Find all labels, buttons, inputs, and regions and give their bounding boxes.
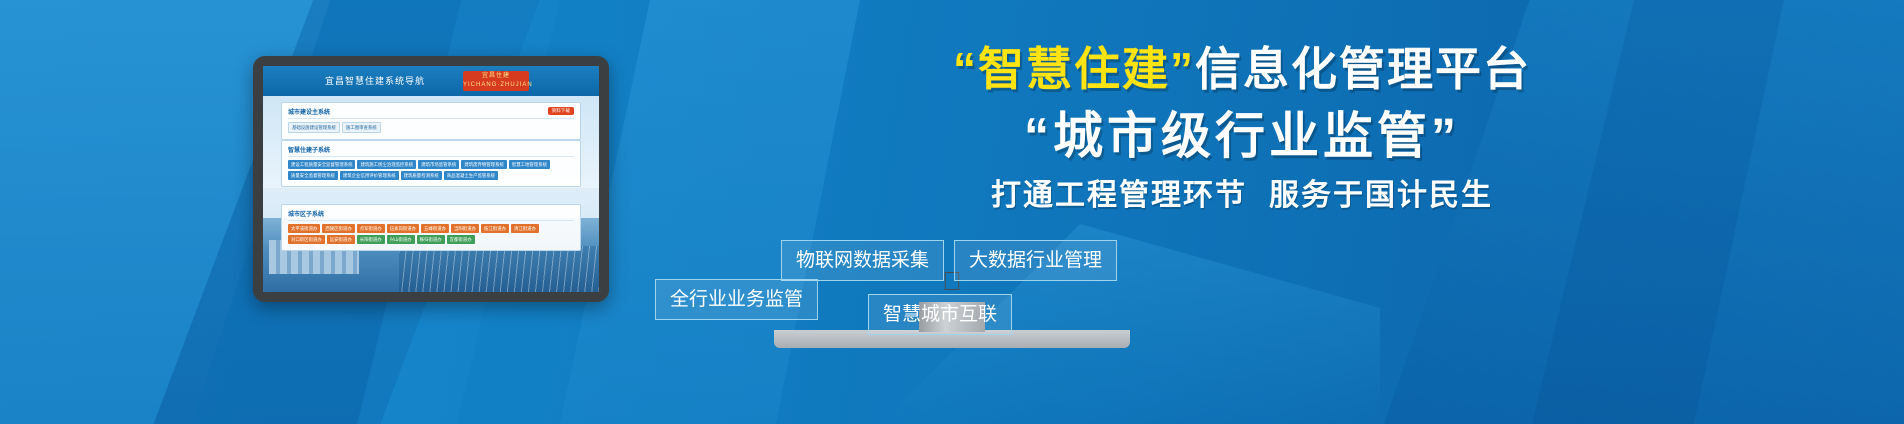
screen-panel-smart-housing: 智慧住建子系统 建设工程质量安全监督管理系统 建筑施工扬尘治理监控系统 建筑市场… <box>281 140 581 187</box>
screen-chip[interactable]: 宜都街道办 <box>447 235 475 244</box>
headline-quote-open: “ <box>953 43 978 95</box>
screen-panel-districts: 城市区子系统 太平溪街道办 西陵区街道办 点军街道办 伍家岗街道办 五峰街道办 … <box>281 204 581 251</box>
screen-chip[interactable]: 建筑质量检测系统 <box>401 171 442 180</box>
panel-title: 城市区子系统 <box>288 209 574 221</box>
screen-chip[interactable]: 远安街道办 <box>327 235 355 244</box>
headline-highlight: 智慧住建 <box>978 43 1170 95</box>
headline-line-1: “智慧住建”信息化管理平台 <box>652 44 1832 96</box>
screen-panel-city-main: 资料下载 城市建设主系统 基础设施建设管理系统 施工图审查系统 <box>281 102 581 140</box>
download-button[interactable]: 资料下载 <box>548 107 574 115</box>
screen-chip[interactable]: 五峰街道办 <box>421 224 449 233</box>
tag-pill-all-industry-supervision[interactable]: 全行业业务监管 <box>655 279 818 320</box>
screen-header: 宜昌智慧住建系统导航 宜昌住建YICHANG·ZHUJIAN <box>263 66 599 96</box>
screen-chip[interactable]: 兴山街道办 <box>387 235 415 244</box>
headline-quote-close: ” <box>1170 43 1195 95</box>
screen-chip[interactable]: 西陵区街道办 <box>322 224 354 233</box>
screen-chip[interactable]: 长阳街道办 <box>357 235 385 244</box>
screen-chip[interactable]: 质量安全监督管理系统 <box>288 171 338 180</box>
panel-title: 智慧住建子系统 <box>288 145 574 157</box>
screen-chip[interactable]: 建设工程质量安全监督管理系统 <box>288 160 355 169</box>
panel-chip-list: 太平溪街道办 西陵区街道办 点军街道办 伍家岗街道办 五峰街道办 当阳街道办 枝… <box>288 224 574 244</box>
screen-chip[interactable]: 商品混凝土生产监管系统 <box>444 171 498 180</box>
monitor-screen: 宜昌智慧住建系统导航 宜昌住建YICHANG·ZHUJIAN 资料下载 城市建设… <box>263 66 599 292</box>
screen-chip[interactable]: 建筑市场监管系统 <box>418 160 459 169</box>
headline-line-2: “城市级行业监管” <box>652 106 1832 166</box>
screen-chip[interactable]: 太平溪街道办 <box>288 224 320 233</box>
tag-pill-smart-city-interconnection[interactable]: 智慧城市互联 <box>868 294 1012 335</box>
monitor-bezel: 宜昌智慧住建系统导航 宜昌住建YICHANG·ZHUJIAN 资料下载 城市建设… <box>253 56 609 302</box>
hero-banner:  宜昌智慧住建系统导航 宜昌住建YICHANG·ZHUJIAN 资料下载 城市… <box>0 0 1904 424</box>
screen-chip[interactable]: 基础设施建设管理系统 <box>288 122 340 133</box>
screen-body: 资料下载 城市建设主系统 基础设施建设管理系统 施工图审查系统 智慧住建子系统 … <box>263 96 599 292</box>
screen-chip[interactable]: 对口新区街道办 <box>288 235 325 244</box>
tag-pill-bigdata-industry-management[interactable]: 大数据行业管理 <box>954 240 1117 281</box>
screen-chip[interactable]: 建筑施工扬尘治理监控系统 <box>357 160 416 169</box>
screen-chip[interactable]: 清江街道办 <box>511 224 539 233</box>
headline-block: “智慧住建”信息化管理平台 “城市级行业监管” 打通工程管理环节服务于国计民生 <box>652 44 1832 214</box>
screen-chip[interactable]: 建筑企业信用评价管理系统 <box>340 171 399 180</box>
panel-chip-list: 建设工程质量安全监督管理系统 建筑施工扬尘治理监控系统 建筑市场监管系统 建筑废… <box>288 160 574 180</box>
screen-chip[interactable]: 当阳街道办 <box>451 224 479 233</box>
headline-line-3-b: 服务于国计民生 <box>1269 179 1493 212</box>
screen-chip[interactable]: 枝江街道办 <box>481 224 509 233</box>
headline-line-3: 打通工程管理环节服务于国计民生 <box>652 178 1832 214</box>
screen-logo: 宜昌住建YICHANG·ZHUJIAN <box>463 71 529 91</box>
monitor-mockup: 宜昌智慧住建系统导航 宜昌住建YICHANG·ZHUJIAN 资料下载 城市建设… <box>253 56 609 302</box>
screen-chip[interactable]: 智慧工地管理系统 <box>509 160 550 169</box>
headline-line-3-a: 打通工程管理环节 <box>991 179 1247 212</box>
panel-title: 城市建设主系统 <box>288 107 574 119</box>
screen-chip[interactable]: 伍家岗街道办 <box>387 224 419 233</box>
screen-title: 宜昌智慧住建系统导航 <box>325 76 425 86</box>
screen-chip[interactable]: 点军街道办 <box>357 224 385 233</box>
tag-pill-iot-data-collection[interactable]: 物联网数据采集 <box>781 240 944 281</box>
screen-chip[interactable]: 施工图审查系统 <box>342 122 381 133</box>
panel-chip-list: 基础设施建设管理系统 施工图审查系统 <box>288 122 574 133</box>
screen-chip[interactable]: 秭归街道办 <box>417 235 445 244</box>
screen-chip[interactable]: 建筑废弃物管理系统 <box>461 160 507 169</box>
headline-line-1-rest: 信息化管理平台 <box>1195 43 1531 95</box>
